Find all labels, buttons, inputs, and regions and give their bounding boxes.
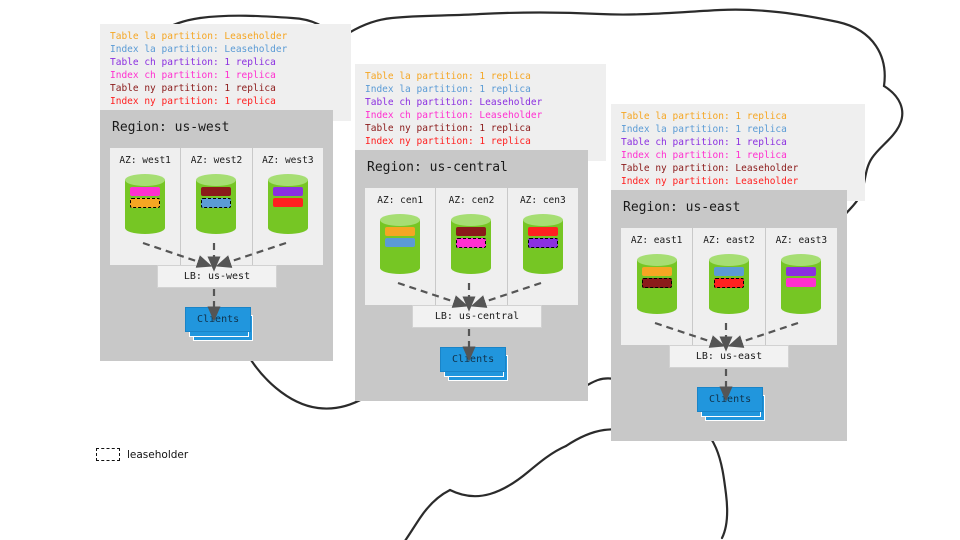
info-line-2: Table ch partition: 1 replica [110,56,343,69]
info-line-5: Index ny partition: 1 replica [110,95,343,108]
clients-box-us-west[interactable]: Clients [185,307,251,332]
replica-bar-leaseholder [201,198,231,208]
clients-group-us-central[interactable]: Clients [440,347,502,379]
az-label: AZ: cen2 [449,195,495,206]
info-line-0: Table la partition: Leaseholder [110,30,343,43]
info-line-2: Table ch partition: Leaseholder [365,96,598,109]
info-line-4: Table ny partition: Leaseholder [621,162,857,175]
az-label: AZ: east3 [776,235,827,246]
az-cell-cen1: AZ: cen1 [365,188,436,305]
replica-bars [642,267,672,288]
clients-box-us-central[interactable]: Clients [440,347,506,372]
info-line-3: Index ch partition: Leaseholder [365,109,598,122]
lb-us-east[interactable]: LB: us-east [669,345,789,368]
database-cylinder-icon [637,254,677,314]
replica-bar [273,198,303,207]
info-line-3: Index ch partition: 1 replica [110,69,343,82]
clients-group-us-west[interactable]: Clients [185,307,247,339]
info-line-3: Index ch partition: 1 replica [621,149,857,162]
az-strip-us-west: AZ: west1AZ: west2AZ: west3 [110,148,323,265]
az-cell-east2: AZ: east2 [693,228,765,345]
info-line-4: Table ny partition: 1 replica [365,122,598,135]
replica-bar [786,267,816,276]
cylinder-top [268,174,308,186]
region-panel-us-west: Region: us-west AZ: west1AZ: west2AZ: we… [100,110,333,361]
az-label: AZ: cen1 [377,195,423,206]
info-line-1: Index la partition: 1 replica [365,83,598,96]
az-cell-cen3: AZ: cen3 [508,188,578,305]
info-line-0: Table la partition: 1 replica [621,110,857,123]
cylinder-top [781,254,821,266]
info-line-1: Index la partition: 1 replica [621,123,857,136]
replica-bar [385,238,415,247]
database-cylinder-icon [709,254,749,314]
replica-bar-leaseholder [130,198,160,208]
az-label: AZ: east1 [631,235,682,246]
replica-bars [201,187,231,208]
replica-bar [201,187,231,196]
lb-us-west[interactable]: LB: us-west [157,265,277,288]
region-title-us-central: Region: us-central [367,160,508,175]
az-strip-us-east: AZ: east1AZ: east2AZ: east3 [621,228,837,345]
info-box-us-west: Table la partition: LeaseholderIndex la … [100,24,351,121]
legend: leaseholder [96,448,188,461]
database-cylinder-icon [125,174,165,234]
cylinder-top [380,214,420,226]
az-cell-east1: AZ: east1 [621,228,693,345]
database-cylinder-icon [451,214,491,274]
cylinder-top [523,214,563,226]
legend-label: leaseholder [127,449,188,461]
info-line-4: Table ny partition: 1 replica [110,82,343,95]
az-cell-west1: AZ: west1 [110,148,181,265]
clients-box-us-east[interactable]: Clients [697,387,763,412]
az-cell-cen2: AZ: cen2 [436,188,507,305]
region-title-us-east: Region: us-east [623,200,740,215]
az-strip-us-central: AZ: cen1AZ: cen2AZ: cen3 [365,188,578,305]
database-cylinder-icon [268,174,308,234]
info-box-us-east: Table la partition: 1 replicaIndex la pa… [611,104,865,201]
info-line-0: Table la partition: 1 replica [365,70,598,83]
replica-bars [273,187,303,207]
az-label: AZ: east2 [703,235,754,246]
info-box-us-central: Table la partition: 1 replicaIndex la pa… [355,64,606,161]
region-title-us-west: Region: us-west [112,120,229,135]
az-cell-west2: AZ: west2 [181,148,252,265]
az-cell-west3: AZ: west3 [253,148,323,265]
replica-bar-leaseholder [642,278,672,288]
replica-bars [385,227,415,247]
replica-bar [130,187,160,196]
replica-bar [528,227,558,236]
replica-bars [456,227,486,248]
replica-bar [385,227,415,236]
replica-bars [786,267,816,287]
replica-bar [273,187,303,196]
clients-group-us-east[interactable]: Clients [697,387,759,419]
cylinder-top [125,174,165,186]
replica-bars [714,267,744,288]
info-line-5: Index ny partition: 1 replica [365,135,598,148]
cylinder-top [709,254,749,266]
az-label: AZ: west3 [262,155,313,166]
replica-bar [714,267,744,276]
az-label: AZ: cen3 [520,195,566,206]
leaseholder-swatch-icon [96,448,120,461]
info-line-5: Index ny partition: Leaseholder [621,175,857,188]
database-cylinder-icon [523,214,563,274]
replica-bar [642,267,672,276]
database-cylinder-icon [196,174,236,234]
az-cell-east3: AZ: east3 [766,228,837,345]
replica-bars [528,227,558,248]
replica-bar [456,227,486,236]
az-label: AZ: west1 [119,155,170,166]
region-panel-us-central: Region: us-central AZ: cen1AZ: cen2AZ: c… [355,150,588,401]
replica-bar [786,278,816,287]
cylinder-top [637,254,677,266]
lb-us-central[interactable]: LB: us-central [412,305,542,328]
database-cylinder-icon [380,214,420,274]
replica-bar-leaseholder [456,238,486,248]
replica-bars [130,187,160,208]
replica-bar-leaseholder [714,278,744,288]
info-line-1: Index la partition: Leaseholder [110,43,343,56]
region-panel-us-east: Region: us-east AZ: east1AZ: east2AZ: ea… [611,190,847,441]
replica-bar-leaseholder [528,238,558,248]
info-line-2: Table ch partition: 1 replica [621,136,857,149]
database-cylinder-icon [781,254,821,314]
az-label: AZ: west2 [191,155,242,166]
